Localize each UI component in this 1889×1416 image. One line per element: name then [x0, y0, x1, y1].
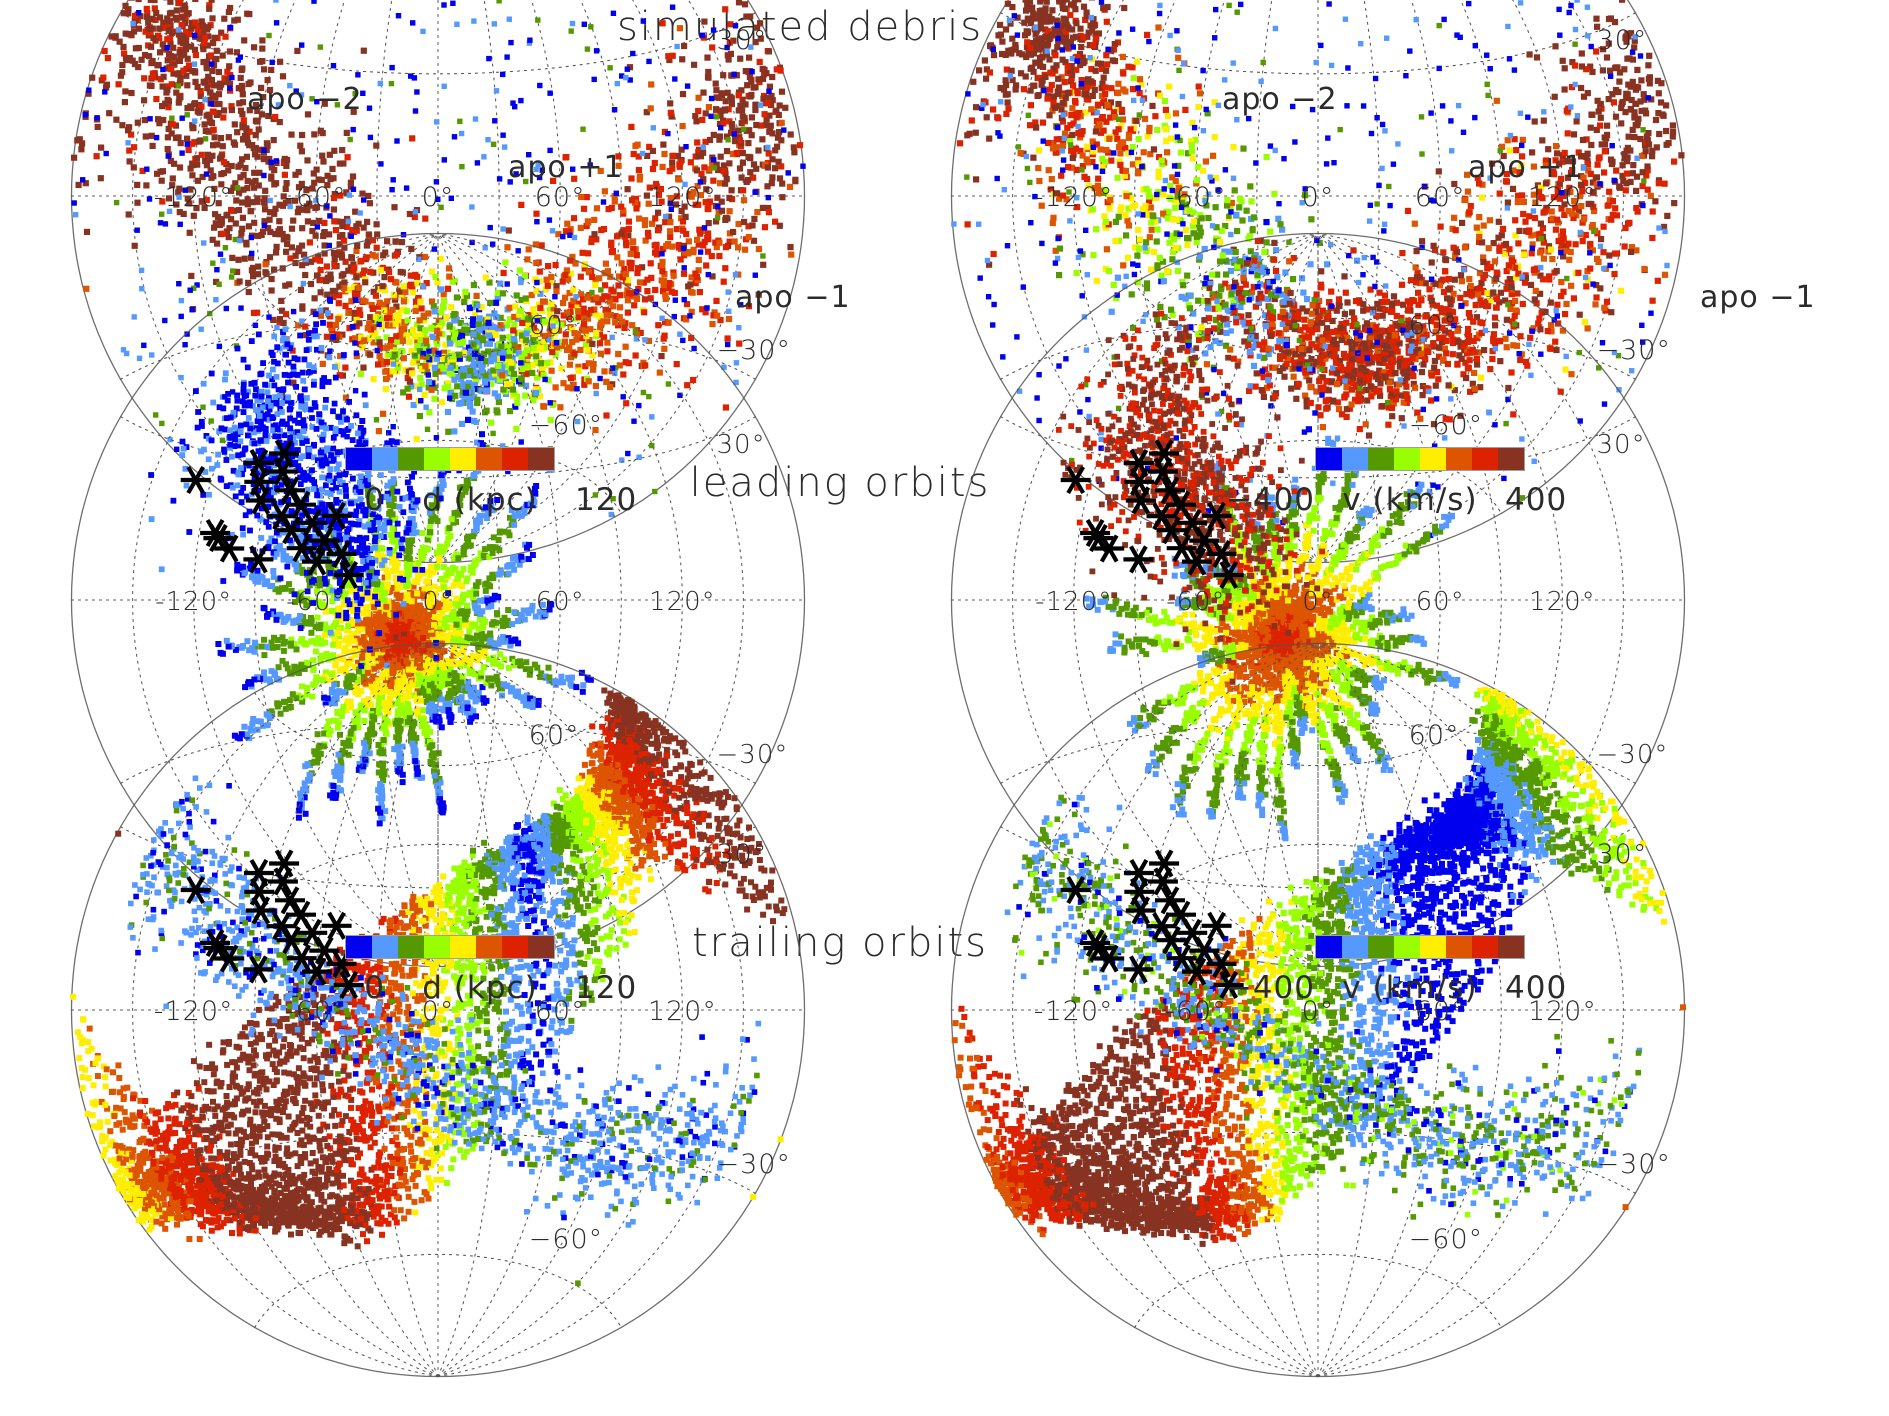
- colorbar-swatch-5: [1446, 448, 1472, 470]
- axis-tick-label: −60°: [1409, 1224, 1483, 1255]
- colorbar-swatch-4: [450, 936, 476, 958]
- colorbar-velocity-row2-labels: −400 v (km/s) 400: [1195, 970, 1625, 1006]
- panel-leading-distance: [60, 425, 820, 765]
- colorbar-swatch-3: [424, 936, 450, 958]
- colorbar-swatch-7: [1498, 448, 1524, 470]
- colorbar-velocity-row2: [1315, 935, 1525, 959]
- panel-debris-distance: [60, 30, 820, 370]
- colorbar-swatch-3: [424, 448, 450, 470]
- annotation-apo-minus-2-right: apo −2: [1222, 82, 1338, 117]
- colorbar-swatch-4: [450, 448, 476, 470]
- cb-unit-label: v (km/s): [1315, 970, 1505, 1006]
- axis-tick-label: −30°: [1597, 1149, 1671, 1180]
- annotation-apo-minus-2-left: apo −2: [247, 82, 363, 117]
- colorbar-swatch-6: [1472, 448, 1498, 470]
- colorbar-swatch-1: [1342, 936, 1368, 958]
- colorbar-swatch-5: [476, 936, 502, 958]
- annotation-apo-plus-1-right: apo +1: [1468, 150, 1584, 185]
- colorbar-swatch-6: [502, 448, 528, 470]
- colorbar-velocity-row1-labels: −400 v (km/s) 400: [1195, 482, 1625, 518]
- panel-debris-velocity: [940, 30, 1700, 370]
- cb-high-label: 120: [575, 970, 695, 1006]
- colorbar-swatch-2: [1368, 936, 1394, 958]
- annotation-apo-minus-1-left: apo −1: [735, 280, 851, 315]
- figure-canvas: simulated debris leading orbits trailing…: [0, 0, 1889, 1416]
- axis-tick-label: −30°: [717, 1149, 791, 1180]
- cb-low-label: 0: [265, 970, 385, 1006]
- colorbar-swatch-0: [1316, 448, 1342, 470]
- colorbar-swatch-1: [372, 936, 398, 958]
- colorbar-distance-row1-labels: 0 d (kpc) 120: [265, 482, 695, 518]
- cb-low-label: 0: [265, 482, 385, 518]
- colorbar-swatch-2: [1368, 448, 1394, 470]
- colorbar-swatch-5: [1446, 936, 1472, 958]
- colorbar-swatch-2: [398, 448, 424, 470]
- cb-unit-label: d (kpc): [385, 970, 575, 1006]
- cb-high-label: 400: [1505, 970, 1625, 1006]
- annotation-apo-minus-1-right: apo −1: [1700, 280, 1816, 315]
- colorbar-swatch-6: [1472, 936, 1498, 958]
- colorbar-swatch-3: [1394, 936, 1420, 958]
- cb-low-label: −400: [1195, 482, 1315, 518]
- colorbar-swatch-0: [1316, 936, 1342, 958]
- colorbar-swatch-6: [502, 936, 528, 958]
- colorbar-swatch-4: [1420, 936, 1446, 958]
- colorbar-swatch-0: [346, 936, 372, 958]
- colorbar-distance-row2-labels: 0 d (kpc) 120: [265, 970, 695, 1006]
- colorbar-swatch-5: [476, 448, 502, 470]
- colorbar-swatch-0: [346, 448, 372, 470]
- colorbar-swatch-7: [1498, 936, 1524, 958]
- axis-tick-label: −60°: [529, 1224, 603, 1255]
- cb-high-label: 400: [1505, 482, 1625, 518]
- cb-low-label: −400: [1195, 970, 1315, 1006]
- colorbar-swatch-2: [398, 936, 424, 958]
- colorbar-swatch-3: [1394, 448, 1420, 470]
- cb-unit-label: v (km/s): [1315, 482, 1505, 518]
- colorbar-swatch-7: [528, 936, 554, 958]
- colorbar-swatch-7: [528, 448, 554, 470]
- colorbar-distance-row1: [345, 447, 555, 471]
- colorbar-swatch-4: [1420, 448, 1446, 470]
- colorbar-distance-row2: [345, 935, 555, 959]
- colorbar-velocity-row1: [1315, 447, 1525, 471]
- panel-leading-velocity: [940, 425, 1700, 765]
- cb-high-label: 120: [575, 482, 695, 518]
- colorbar-swatch-1: [1342, 448, 1368, 470]
- colorbar-swatch-1: [372, 448, 398, 470]
- annotation-apo-plus-1-left: apo +1: [508, 150, 624, 185]
- cb-unit-label: d (kpc): [385, 482, 575, 518]
